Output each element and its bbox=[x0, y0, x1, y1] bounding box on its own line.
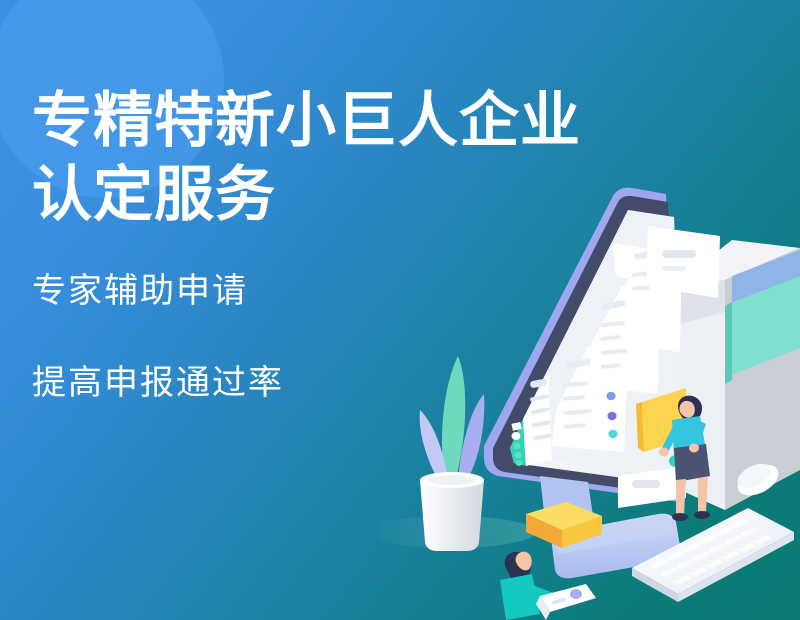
headline-line-2: 认定服务 bbox=[32, 158, 552, 232]
plant-pot bbox=[420, 480, 484, 551]
subtitle-line-1: 专家辅助申请 bbox=[32, 270, 552, 312]
headline-line-1: 专精特新小巨人企业 bbox=[32, 84, 552, 158]
banner-text-block: 专精特新小巨人企业 认定服务 专家辅助申请 提高申报通过率 bbox=[32, 84, 552, 404]
promo-banner: 专精特新小巨人企业 认定服务 专家辅助申请 提高申报通过率 bbox=[0, 0, 800, 620]
tablet-device bbox=[536, 584, 596, 620]
subtitle-line-2: 提高申报通过率 bbox=[32, 362, 552, 404]
subtitle-list: 专家辅助申请 提高申报通过率 bbox=[32, 270, 552, 404]
floating-popup-card bbox=[646, 226, 720, 298]
